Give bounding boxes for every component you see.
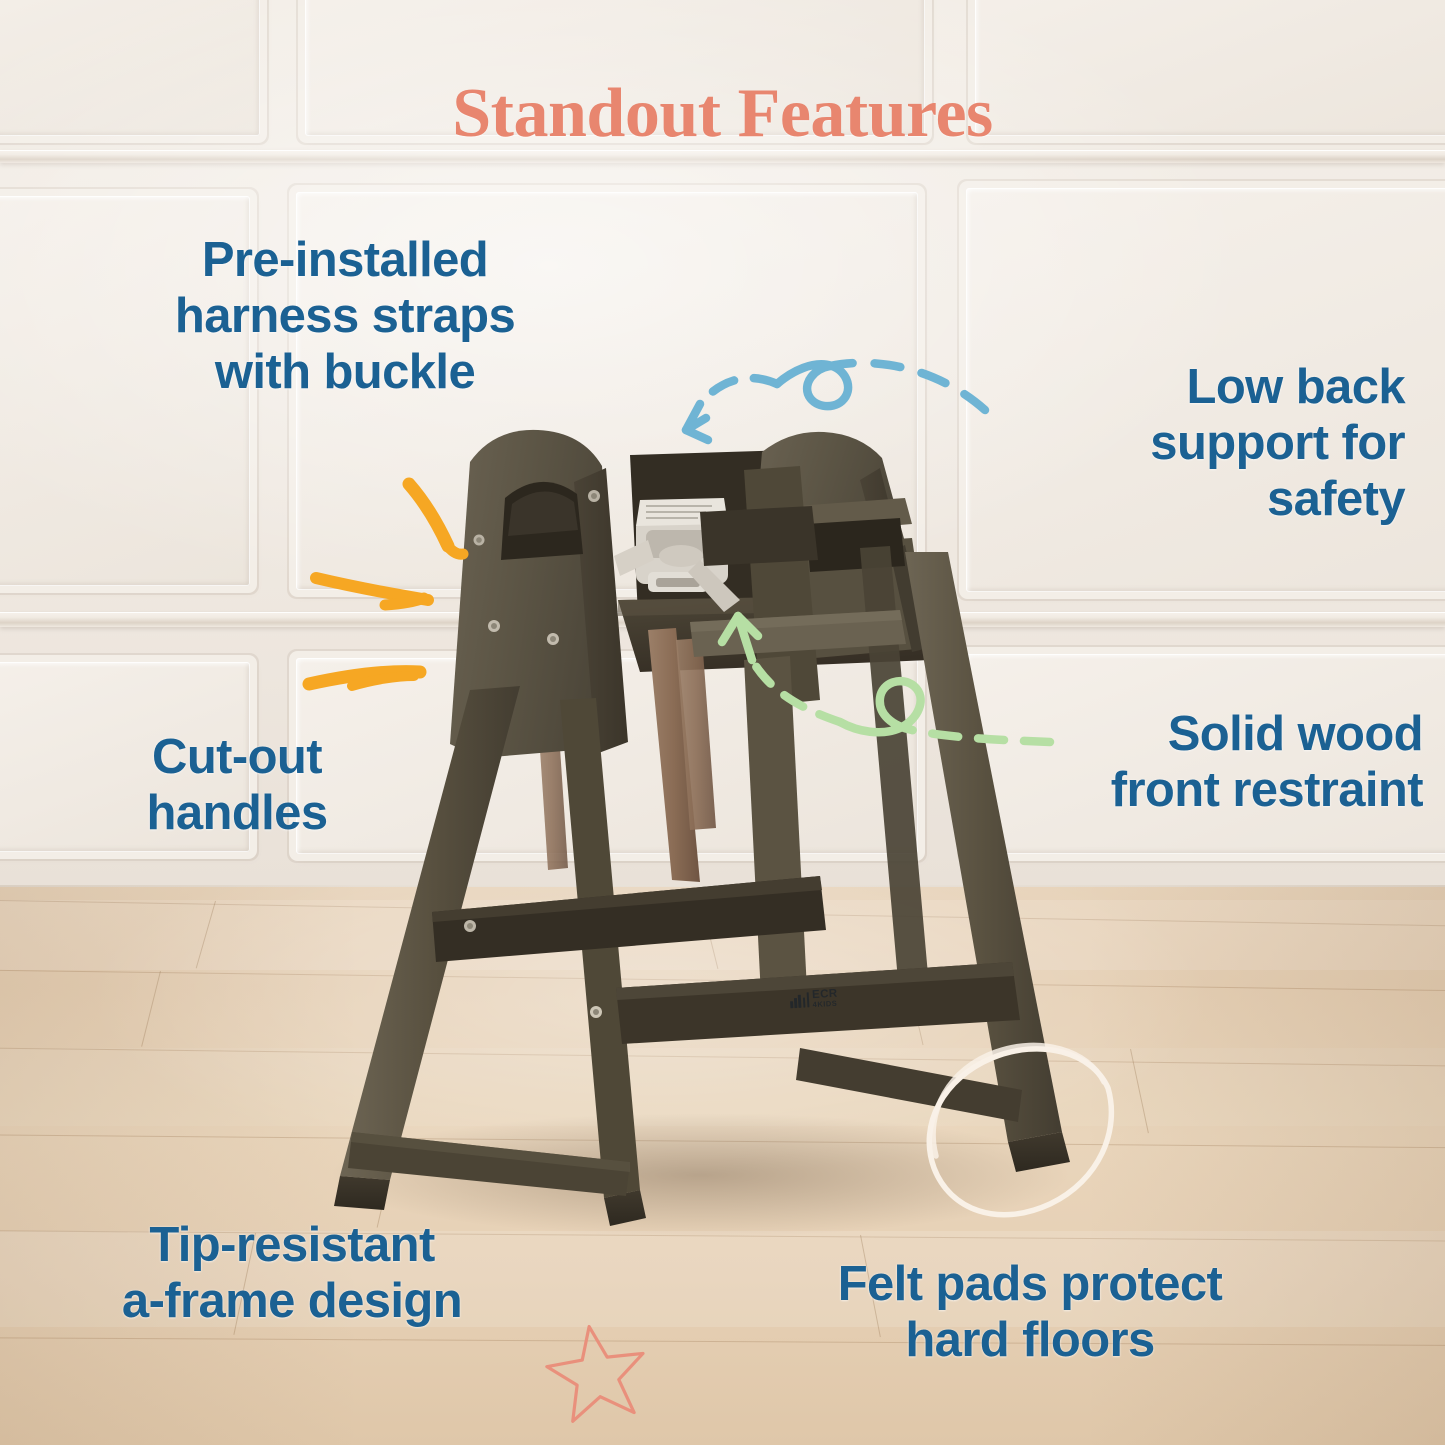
wall-panel [296,658,918,854]
infographic-canvas: ECR 4KIDS [0,0,1445,1445]
feature-label-felt-pads: Felt pads protect hard floors [820,1257,1240,1369]
page-title: Standout Features [0,74,1445,154]
feature-label-low-back: Low back support for safety [985,360,1405,528]
feature-label-harness: Pre-installed harness straps with buckle [146,233,544,401]
wall-rail [0,612,1445,627]
feature-label-cut-out-handles: Cut-out handles [92,730,382,842]
logo-bars-icon [790,992,810,1008]
feature-label-tip-resistant: Tip-resistant a-frame design [72,1218,512,1330]
logo-sub: 4KIDS [812,1000,838,1009]
feature-label-solid-wood-restraint: Solid wood front restraint [1003,707,1423,819]
ecr-4kids-logo: ECR 4KIDS [790,989,839,1010]
